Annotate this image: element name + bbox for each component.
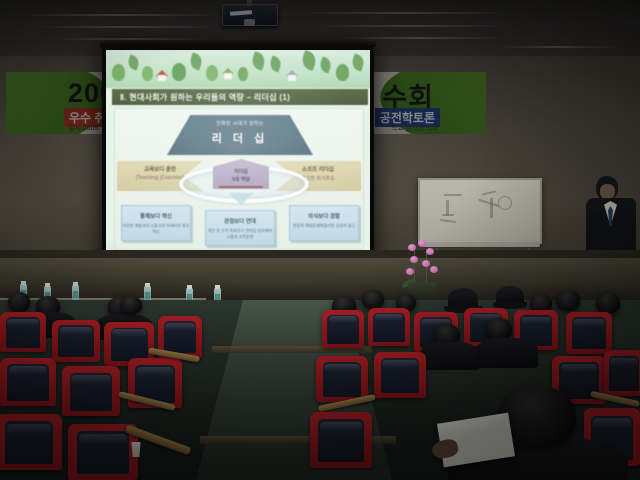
box-2-title: 관점보다 연대 [206,217,274,225]
seat [52,320,100,362]
audience-head [556,290,580,311]
audience-cap [448,288,478,310]
seat [310,412,372,468]
projector-mount [247,0,252,6]
seat [322,310,364,348]
seat [604,350,640,396]
presentation-slide: Ⅱ. 현대사회가 원하는 우리들의 역량 – 리더십 (1) 진화된 시대가 원… [106,50,370,266]
diagram-down-arrow [228,193,254,205]
ceiling-projector [222,4,278,26]
audience-cap [496,286,524,306]
whiteboard [418,178,542,244]
diagram-box-3: 의식보다 경험 현장적 체험문제해결기반 공감적 접근 [289,205,359,241]
core-line-1: 리더십 [213,168,269,175]
audience-shoulders [476,338,538,368]
diagram-header-title: 리 더 십 [167,130,313,146]
audience-head [596,292,620,314]
box-3-title: 의식보다 경험 [290,212,358,220]
core-underline [219,186,263,188]
slide-content-area: 진화된 시대가 원하는 리 더 십 교육보다 훈련 [Teaching] [Co… [114,108,364,250]
audience-head [8,292,30,312]
seat [0,358,56,406]
presenter-face [600,184,615,199]
seat [316,356,368,402]
leadership-diagram: 진화된 시대가 원하는 리 더 십 교육보다 훈련 [Teaching] [Co… [115,109,363,249]
seat [0,414,62,470]
screen-surface: Ⅱ. 현대사회가 원하는 우리들의 역량 – 리더십 (1) 진화된 시대가 원… [106,50,370,266]
banner-date: 일시 2009. [68,123,100,133]
diagram-box-1: 통해보다 혁신 다양한 계층과의 소통으로 미래비전 창조 혁신 [121,205,191,241]
seat [0,312,46,352]
projector-lens [244,19,255,26]
diagram-header: 진화된 시대가 원하는 리 더 십 [167,115,313,155]
lecture-hall-photo: 200 수회 우수 취업 공전학토론 일시 2009. 학교 환경공학과 [0,0,640,480]
audience-head [362,290,384,309]
seat [62,366,120,416]
box-1-body: 다양한 계층과의 소통으로 미래비전 창조 혁신 [122,223,190,235]
seat [368,308,410,346]
diagram-box-2: 관점보다 연대 개인 및 조직 목표의식 연대감 상호배려 소통의 조직문화 [205,210,275,246]
projector-glint [230,10,252,16]
box-2-body: 개인 및 조직 목표의식 연대감 상호배려 소통의 조직문화 [206,228,274,240]
panel-left-title: 교육보다 훈련 [117,165,203,173]
seat [566,312,612,354]
core-line-2: 5대 역량 [213,176,269,183]
audience-head [120,296,142,314]
box-3-body: 현장적 체험문제해결기반 공감적 접근 [290,223,358,229]
diagram-header-subtitle: 진화된 시대가 원하는 [167,120,313,127]
slide-title: Ⅱ. 현대사회가 원하는 우리들의 역량 – 리더십 (1) [112,89,368,105]
projection-screen: Ⅱ. 현대사회가 원하는 우리들의 역량 – 리더십 (1) 진화된 시대가 원… [102,46,374,270]
slide-hero-illustration [106,50,370,88]
banner-dept: 학교 환경공학과 [391,123,438,133]
audience-shoulders [420,342,480,370]
orchid-plant [396,240,448,298]
box-1-title: 통해보다 혁신 [122,212,190,220]
seat [374,352,426,398]
diagram-core: 리더십 5대 역량 [213,159,269,189]
